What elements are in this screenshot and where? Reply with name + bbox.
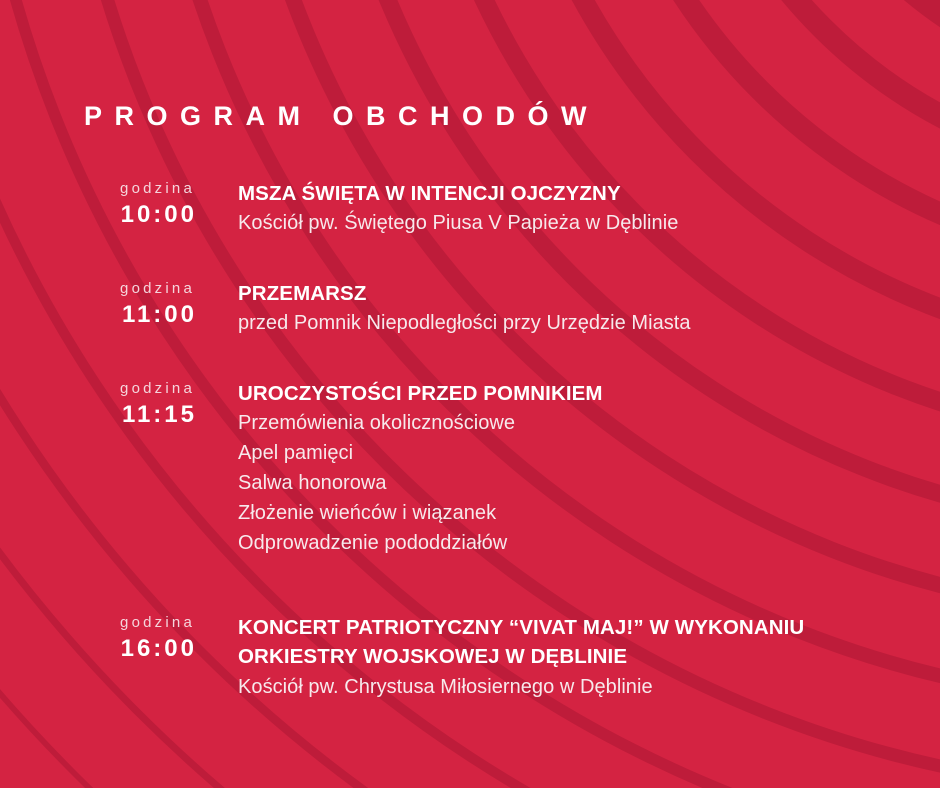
event-time-column: godzina16:00 bbox=[0, 612, 200, 664]
event-detail-line: Złożenie wieńców i wiązanek bbox=[238, 498, 940, 528]
event-time-label: godzina bbox=[0, 380, 198, 399]
event-detail-column: PRZEMARSZprzed Pomnik Niepodległości prz… bbox=[200, 278, 940, 338]
poster-content: PROGRAM OBCHODÓW godzina10:00MSZA ŚWIĘTA… bbox=[0, 0, 940, 788]
event-detail-column: KONCERT PATRIOTYCZNY “VIVAT MAJ!” W WYKO… bbox=[200, 612, 940, 701]
event-time-column: godzina11:15 bbox=[0, 378, 200, 430]
event-detail-line: Kościół pw. Świętego Piusa V Papieża w D… bbox=[238, 208, 940, 238]
schedule-event-row: godzina11:00PRZEMARSZprzed Pomnik Niepod… bbox=[0, 278, 940, 338]
event-detail-line: Apel pamięci bbox=[238, 438, 940, 468]
event-heading: PRZEMARSZ bbox=[238, 279, 940, 308]
event-time-value: 11:00 bbox=[0, 299, 198, 331]
event-time-label: godzina bbox=[0, 614, 198, 633]
event-time-column: godzina11:00 bbox=[0, 278, 200, 330]
event-detail-line: przed Pomnik Niepodległości przy Urzędzi… bbox=[238, 308, 940, 338]
schedule-list: godzina10:00MSZA ŚWIĘTA W INTENCJI OJCZY… bbox=[0, 178, 940, 702]
event-time-value: 11:15 bbox=[0, 399, 198, 431]
program-poster: PROGRAM OBCHODÓW godzina10:00MSZA ŚWIĘTA… bbox=[0, 0, 940, 788]
event-time-value: 10:00 bbox=[0, 199, 198, 231]
event-heading: KONCERT PATRIOTYCZNY “VIVAT MAJ!” W WYKO… bbox=[238, 613, 940, 642]
event-detail-column: UROCZYSTOŚCI PRZED POMNIKIEMPrzemówienia… bbox=[200, 378, 940, 558]
event-time-value: 16:00 bbox=[0, 633, 198, 665]
event-heading-continued: ORKIESTRY WOJSKOWEJ W DĘBLINIE bbox=[238, 642, 940, 671]
event-detail-line: Odprowadzenie pododdziałów bbox=[238, 528, 940, 558]
event-time-column: godzina10:00 bbox=[0, 178, 200, 230]
event-heading: MSZA ŚWIĘTA W INTENCJI OJCZYZNY bbox=[238, 179, 940, 208]
event-time-label: godzina bbox=[0, 180, 198, 199]
event-heading: UROCZYSTOŚCI PRZED POMNIKIEM bbox=[238, 379, 940, 408]
event-time-label: godzina bbox=[0, 280, 198, 299]
event-detail-line: Salwa honorowa bbox=[238, 468, 940, 498]
page-title: PROGRAM OBCHODÓW bbox=[84, 103, 599, 130]
schedule-event-row: godzina16:00KONCERT PATRIOTYCZNY “VIVAT … bbox=[0, 612, 940, 701]
event-detail-line: Przemówienia okolicznościowe bbox=[238, 408, 940, 438]
event-detail-column: MSZA ŚWIĘTA W INTENCJI OJCZYZNYKościół p… bbox=[200, 178, 940, 238]
event-detail-line: Kościół pw. Chrystusa Miłosiernego w Dęb… bbox=[238, 672, 940, 702]
schedule-event-row: godzina10:00MSZA ŚWIĘTA W INTENCJI OJCZY… bbox=[0, 178, 940, 238]
schedule-event-row: godzina11:15UROCZYSTOŚCI PRZED POMNIKIEM… bbox=[0, 378, 940, 558]
